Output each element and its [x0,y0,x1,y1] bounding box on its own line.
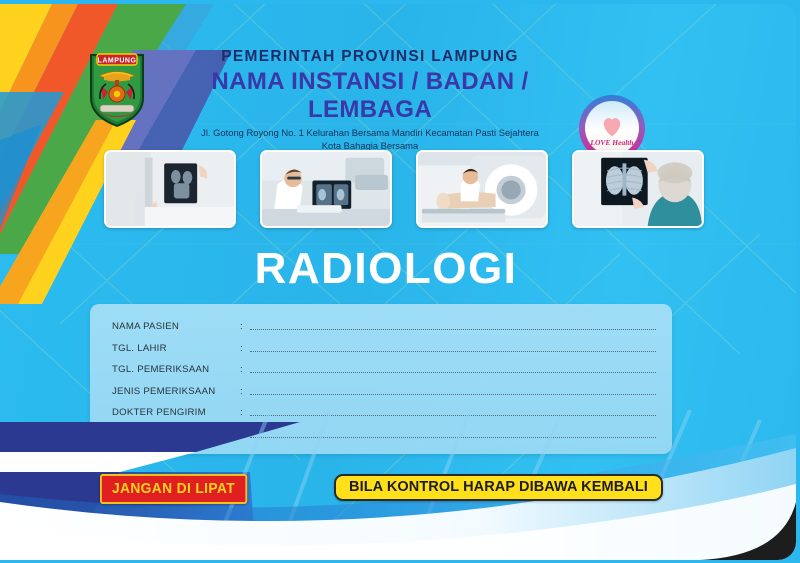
card-background: LAMPUNG PEMERINTAH PROVINSI LAMPUNG NAM [0,4,796,560]
photo-ultrasound-operator [260,150,392,228]
page-title: RADIOLOGI [0,244,772,294]
alamat-input[interactable] [250,436,656,438]
field-label: TGL. PEMERIKSAAN [112,364,240,375]
form-row: DOKTER PENGIRIM : [112,402,656,424]
photo-xray-viewing [104,150,236,228]
field-colon: : [240,364,250,375]
form-row: NAMA PASIEN : [112,316,656,338]
field-colon: : [240,386,250,397]
tgl-lahir-input[interactable] [250,350,656,352]
field-label: TGL. LAHIR [112,343,240,354]
form-row: JENIS PEMERIKSAAN : [112,381,656,403]
field-colon: : [240,343,250,354]
field-colon: : [240,429,250,440]
form-row: ALAMAT : [112,424,656,446]
field-label: DOKTER PENGIRIM [112,407,240,418]
nama-pasien-input[interactable] [250,328,656,330]
form-rows: NAMA PASIEN : TGL. LAHIR : TGL. PEMERIKS… [112,316,656,445]
jenis-pemeriksaan-input[interactable] [250,393,656,395]
radiology-card: LAMPUNG PEMERINTAH PROVINSI LAMPUNG NAM [0,0,800,563]
form-row: TGL. LAHIR : [112,338,656,360]
header-text-block: PEMERINTAH PROVINSI LAMPUNG NAMA INSTANS… [150,48,590,153]
field-label: ALAMAT [112,429,240,440]
card-header: LAMPUNG PEMERINTAH PROVINSI LAMPUNG NAM [0,42,796,142]
bila-kontrol-badge: BILA KONTROL HARAP DIBAWA KEMBALI [334,474,663,501]
patient-form-panel: NAMA PASIEN : TGL. LAHIR : TGL. PEMERIKS… [90,304,672,454]
institution-name: NAMA INSTANSI / BADAN / LEMBAGA [150,68,590,123]
government-line: PEMERINTAH PROVINSI LAMPUNG [150,48,590,65]
jangan-di-lipat-badge: JANGAN DI LIPAT [100,474,247,504]
field-colon: : [240,407,250,418]
svg-text:LAMPUNG: LAMPUNG [98,58,137,65]
address-line-1: Jl. Gotong Royong No. 1 Kelurahan Bersam… [150,127,590,140]
photo-ct-scanner [416,150,548,228]
dokter-pengirim-input[interactable] [250,414,656,416]
field-label: NAMA PASIEN [112,321,240,332]
love-health-logo-text: LOVE Health [589,138,633,147]
field-label: JENIS PEMERIKSAAN [112,386,240,397]
tgl-pemeriksaan-input[interactable] [250,371,656,373]
form-row: TGL. PEMERIKSAAN : [112,359,656,381]
field-colon: : [240,321,250,332]
lampung-crest-icon: LAMPUNG [88,50,146,128]
photo-strip [104,150,704,228]
photo-chest-xray-review [572,150,704,228]
